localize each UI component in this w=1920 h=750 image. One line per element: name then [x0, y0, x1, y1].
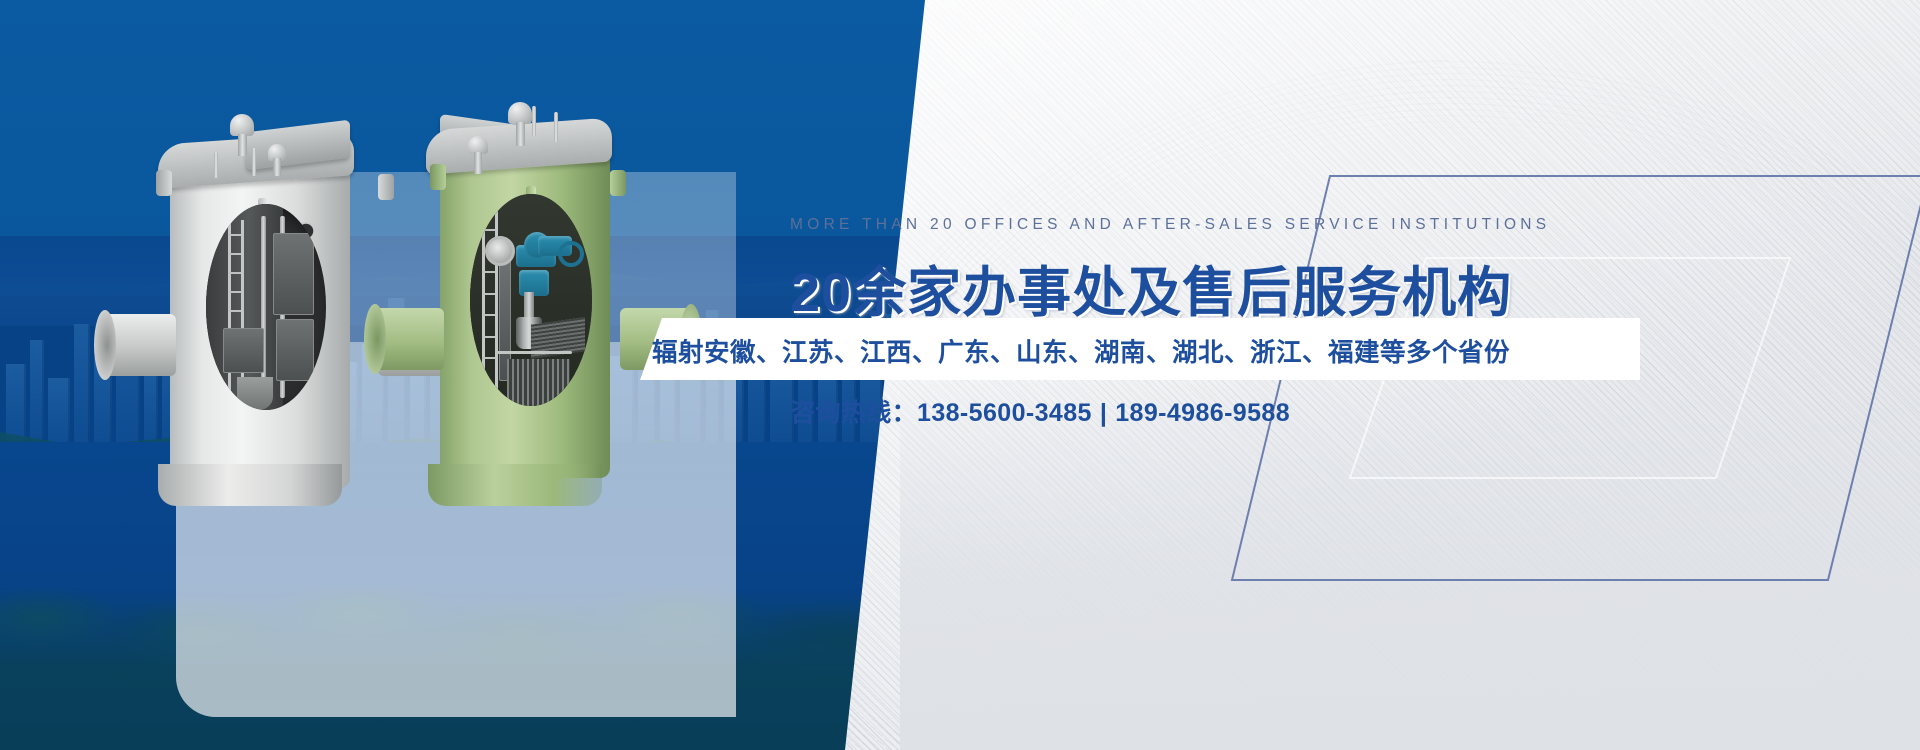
grey-vent-dome [230, 114, 254, 136]
grey-lift-lug-left [156, 170, 172, 196]
grey-internal-panel-upper [273, 233, 314, 315]
product-green-pump-station [420, 108, 640, 500]
green-cutaway-window [470, 194, 592, 406]
green-pipe-flange [485, 236, 515, 266]
eyebrow-tagline: MORE THAN 20 OFFICES AND AFTER-SALES SER… [790, 216, 1550, 234]
grey-sump-basin [237, 377, 273, 410]
grey-lift-lug-right [378, 174, 394, 200]
product-grey-pump-station [150, 118, 400, 500]
grey-vent-stem [238, 134, 247, 156]
hotline-secondary-number[interactable]: 189-4986-9588 [1115, 399, 1290, 427]
green-lift-lug-left [430, 164, 446, 190]
green-vent-dome [508, 102, 532, 124]
green-inlet-nozzle [374, 308, 444, 370]
grey-vent-stem-2 [273, 158, 281, 176]
grey-cutaway-window [206, 204, 326, 410]
grey-internal-panel-lower [276, 319, 314, 381]
grey-control-box [223, 328, 264, 373]
green-vent-stem [516, 122, 525, 146]
green-base-flare [428, 464, 602, 506]
hotline-primary-number[interactable]: 138-5600-3485 [917, 399, 1092, 427]
subtitle-text: 辐射安徽、江苏、江西、广东、山东、湖南、湖北、浙江、福建等多个省份 [652, 332, 1510, 369]
hotline-row: 咨询热线：138-5600-3485|189-4986-9588 [790, 393, 1290, 429]
green-handrail [497, 351, 573, 354]
grey-inlet-nozzle [104, 314, 176, 376]
promo-banner: MORE THAN 20 OFFICES AND AFTER-SALES SER… [0, 0, 1920, 750]
green-handwheel [558, 241, 584, 267]
grey-base-flare [158, 464, 342, 506]
hotline-label: 咨询热线： [790, 399, 917, 427]
headline-title: 20余家办事处及售后服务机构 [790, 248, 1512, 327]
hotline-separator: | [1092, 399, 1115, 427]
green-antenna-pin-1 [532, 106, 536, 136]
grey-antenna-pin-2 [252, 148, 256, 176]
green-mesh-screen [507, 359, 570, 406]
green-antenna-pin-2 [554, 112, 558, 142]
green-vent-stem-2 [474, 152, 482, 174]
grey-antenna-pin-1 [214, 152, 218, 178]
green-lift-lug-right [610, 170, 626, 196]
